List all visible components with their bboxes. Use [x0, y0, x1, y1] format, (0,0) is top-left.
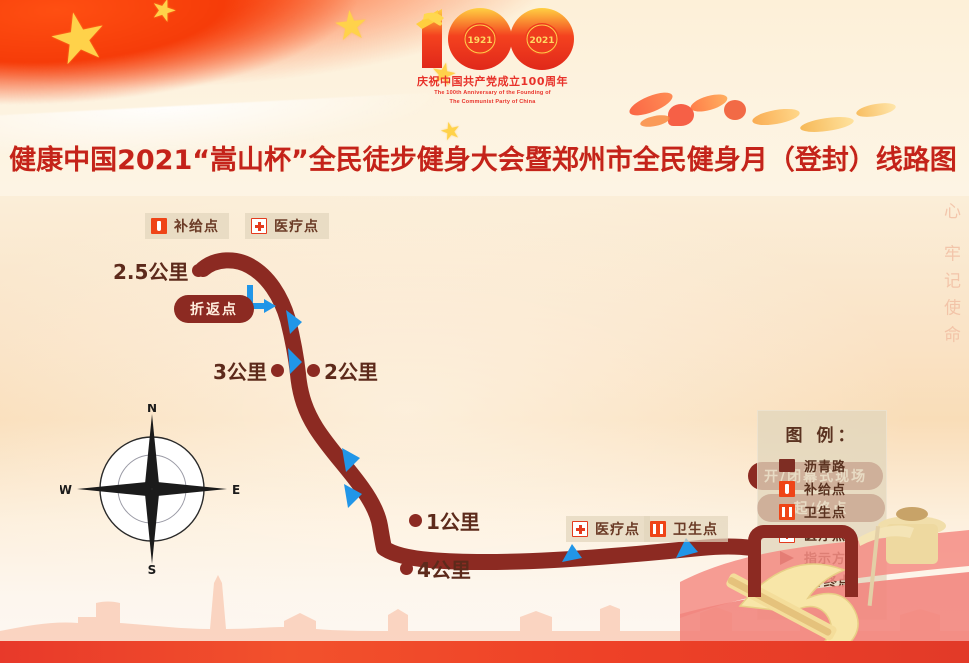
distance-label: 2.5公里 [113, 256, 188, 285]
svg-text:1921: 1921 [467, 36, 492, 46]
start-end-gate-icon [748, 525, 858, 597]
cloud-ribbon-decoration [639, 113, 670, 129]
distance-dot-icon [192, 264, 205, 277]
legend-item-asphalt-road: 沥青路 [758, 454, 886, 477]
cloud-ribbon-decoration [855, 101, 896, 120]
legend-title: 图 例： [758, 421, 886, 446]
compass-label-west: W [60, 483, 72, 497]
distance-dot-icon [271, 364, 284, 377]
emblem-english-caption-line1: The 100th Anniversary of the Founding of [405, 90, 580, 98]
chip-label: 医疗点 [595, 519, 640, 539]
distance-marker-3km: 3公里 [213, 356, 284, 385]
distance-label: 1公里 [426, 506, 480, 535]
compass-label-south: S [148, 563, 157, 574]
distance-dot-icon [400, 562, 413, 575]
svg-text:2021: 2021 [529, 36, 554, 46]
route-map-poster: ★ ★ ★ ★ ★ [0, 0, 969, 663]
flag-star-small-2: ★ [331, 4, 371, 48]
road-icon [778, 457, 795, 474]
cloud-ribbon-decoration [751, 106, 801, 128]
page-title: 建党百年 健康中国2021“嵩山杯”全民徒步健身大会暨郑州市全民健身月（登封）线… [0, 138, 969, 177]
chip-label: 补给点 [174, 216, 219, 236]
compass-rose: N S E W [60, 404, 245, 574]
medical-icon [251, 218, 267, 234]
cpc-centenary-emblem: 1921 2021 庆祝中国共产党成立100周年 The 100th Anniv… [405, 4, 580, 112]
pill-turnaround-point[interactable]: 折返点 [174, 295, 254, 323]
distance-marker-2-5km: 2.5公里 [113, 256, 205, 285]
distance-label: 2公里 [324, 356, 378, 385]
distance-dot-icon [307, 364, 320, 377]
chip-label: 医疗点 [274, 216, 319, 236]
distance-marker-1km: 1公里 [409, 506, 480, 535]
emblem-english-caption-line2: The Communist Party of China [405, 99, 580, 107]
distance-marker-2km: 2公里 [307, 356, 378, 385]
distance-marker-4km: 4公里 [400, 554, 471, 583]
medical-icon [572, 521, 588, 537]
chip-supply-point-top[interactable]: 补给点 [145, 213, 229, 239]
cloud-ribbon-decoration [724, 100, 746, 120]
distance-label: 4公里 [417, 554, 471, 583]
supply-icon [151, 218, 167, 234]
compass-label-east: E [232, 483, 240, 497]
emblem-100-icon: 1921 2021 [405, 4, 580, 72]
title-bar: 建党百年 健康中国2021“嵩山杯”全民徒步健身大会暨郑州市全民健身月（登封）线… [0, 128, 969, 186]
chip-medical-point-top[interactable]: 医疗点 [245, 213, 329, 239]
toilet-icon [650, 521, 666, 537]
map-canvas: 忘初心 牢记使命 [0, 196, 969, 663]
distance-label: 3公里 [213, 356, 267, 385]
distance-dot-icon [409, 514, 422, 527]
bottom-red-band [0, 641, 969, 663]
chip-medical-point-mid[interactable]: 医疗点 [566, 516, 650, 542]
legend-item-label: 沥青路 [804, 456, 846, 475]
emblem-chinese-caption: 庆祝中国共产党成立100周年 [405, 73, 580, 89]
start-end-monument [680, 486, 969, 663]
compass-label-north: N [147, 404, 157, 415]
